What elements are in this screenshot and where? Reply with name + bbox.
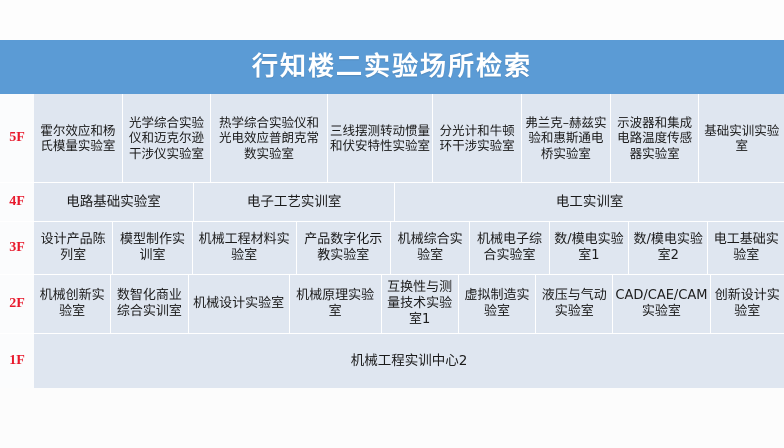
lab-cell-label: 热学综合实验仪和光电效应普朗克常数实验室 (213, 115, 324, 161)
lab-cell[interactable]: 数/模电实验室2 (629, 222, 707, 274)
lab-cell[interactable]: 热学综合实验仪和光电效应普朗克常数实验室 (211, 94, 326, 182)
floor-row: 5F霍尔效应和杨氏模量实验室光学综合实验仪和迈克尔逊干涉仪实验室热学综合实验仪和… (0, 94, 784, 182)
floor-cells: 机械创新实验室数智化商业综合实训室机械设计实验室机械原理实验室互换性与测量技术实… (34, 275, 784, 333)
lab-cell-label: 模型制作实训室 (115, 232, 189, 264)
lab-cell[interactable]: 机械原理实验室 (290, 275, 381, 333)
lab-cell-label: 液压与气动实验室 (538, 288, 610, 320)
lab-cell[interactable]: 机械电子综合实验室 (470, 222, 548, 274)
lab-cell[interactable]: 弗兰克–赫兹实验和惠斯通电桥实验室 (522, 94, 610, 182)
floor-cells: 机械工程实训中心2 (34, 334, 784, 388)
lab-cell[interactable]: 数/模电实验室1 (550, 222, 628, 274)
floor-cells: 电路基础实验室电子工艺实训室电工实训室 (34, 183, 784, 221)
lab-cell[interactable]: 分光计和牛顿环干涉实验室 (433, 94, 521, 182)
floor-label-3f: 3F (0, 222, 34, 274)
lab-cell[interactable]: 电工基础实验室 (708, 222, 784, 274)
floor-label-5f: 5F (0, 94, 34, 182)
lab-cell[interactable]: 示波器和集成电路温度传感器实验室 (611, 94, 699, 182)
floor-label-4f: 4F (0, 183, 34, 221)
lab-cell[interactable]: 基础实训实验室 (699, 94, 784, 182)
lab-cell-label: 基础实训实验室 (701, 123, 782, 154)
lab-cell[interactable]: 机械设计实验室 (189, 275, 289, 333)
lab-cell-label: 产品数字化示教实验室 (299, 232, 388, 264)
lab-cell[interactable]: 机械创新实验室 (34, 275, 110, 333)
lab-cell-label: 电路基础实验室 (66, 194, 161, 210)
lab-cell[interactable]: 虚拟制造实验室 (459, 275, 535, 333)
lab-cell-label: 霍尔效应和杨氏模量实验室 (36, 123, 120, 154)
floor-table: 5F霍尔效应和杨氏模量实验室光学综合实验仪和迈克尔逊干涉仪实验室热学综合实验仪和… (0, 94, 784, 388)
page-title: 行知楼二实验场所检索 (252, 54, 532, 80)
lab-cell[interactable]: CAD/CAE/CAM实验室 (613, 275, 709, 333)
lab-cell[interactable]: 模型制作实训室 (113, 222, 191, 274)
lab-directory-page: 行知楼二实验场所检索 5F霍尔效应和杨氏模量实验室光学综合实验仪和迈克尔逊干涉仪… (0, 0, 784, 448)
page-banner: 行知楼二实验场所检索 (0, 40, 784, 94)
lab-cell-label: 分光计和牛顿环干涉实验室 (435, 123, 519, 154)
lab-cell-label: 光学综合实验仪和迈克尔逊干涉仪实验室 (125, 115, 209, 161)
lab-cell-label: 创新设计实验室 (713, 288, 783, 320)
lab-cell[interactable]: 霍尔效应和杨氏模量实验室 (34, 94, 122, 182)
floor-row: 2F机械创新实验室数智化商业综合实训室机械设计实验室机械原理实验室互换性与测量技… (0, 275, 784, 333)
lab-cell[interactable]: 三线摆测转动惯量和伏安特性实验室 (328, 94, 433, 182)
lab-cell-label: 设计产品陈列室 (36, 232, 110, 264)
lab-cell-label: 机械设计实验室 (193, 296, 284, 312)
lab-cell[interactable]: 互换性与测量技术实验室1 (382, 275, 458, 333)
lab-cell-label: 电工实训室 (556, 194, 624, 210)
lab-cell-label: 机械工程材料实验室 (195, 232, 294, 264)
lab-cell[interactable]: 电路基础实验室 (34, 183, 193, 221)
lab-cell[interactable]: 液压与气动实验室 (536, 275, 612, 333)
lab-cell[interactable]: 设计产品陈列室 (34, 222, 112, 274)
lab-cell[interactable]: 电工实训室 (395, 183, 784, 221)
lab-cell-label: 三线摆测转动惯量和伏安特性实验室 (330, 123, 431, 154)
floor-row: 3F设计产品陈列室模型制作实训室机械工程材料实验室产品数字化示教实验室机械综合实… (0, 222, 784, 274)
lab-cell-label: 数智化商业综合实训室 (113, 288, 185, 320)
lab-cell[interactable]: 创新设计实验室 (711, 275, 784, 333)
lab-cell[interactable]: 机械工程材料实验室 (193, 222, 296, 274)
lab-cell-label: CAD/CAE/CAM实验室 (615, 288, 707, 320)
lab-cell-label: 机械电子综合实验室 (472, 232, 546, 264)
lab-cell-label: 数/模电实验室1 (552, 232, 626, 264)
lab-cell[interactable]: 机械工程实训中心2 (34, 334, 784, 388)
lab-cell-label: 机械原理实验室 (292, 288, 379, 320)
lab-cell-label: 机械综合实验室 (393, 232, 467, 264)
lab-cell[interactable]: 产品数字化示教实验室 (297, 222, 390, 274)
lab-cell-label: 电工基础实验室 (710, 232, 782, 264)
top-white-strip (0, 0, 784, 40)
lab-cell[interactable]: 电子工艺实训室 (194, 183, 394, 221)
floor-label-2f: 2F (0, 275, 34, 333)
lab-cell-label: 虚拟制造实验室 (461, 288, 533, 320)
floor-label-1f: 1F (0, 334, 34, 388)
lab-cell-label: 机械创新实验室 (36, 288, 108, 320)
lab-cell-label: 弗兰克–赫兹实验和惠斯通电桥实验室 (524, 115, 608, 161)
lab-cell-label: 示波器和集成电路温度传感器实验室 (613, 115, 697, 161)
floor-row: 4F电路基础实验室电子工艺实训室电工实训室 (0, 183, 784, 221)
lab-cell-label: 数/模电实验室2 (631, 232, 705, 264)
floor-cells: 霍尔效应和杨氏模量实验室光学综合实验仪和迈克尔逊干涉仪实验室热学综合实验仪和光电… (34, 94, 784, 182)
lab-cell-label: 电子工艺实训室 (247, 194, 342, 210)
lab-cell[interactable]: 数智化商业综合实训室 (111, 275, 187, 333)
floor-row: 1F机械工程实训中心2 (0, 334, 784, 388)
lab-cell[interactable]: 光学综合实验仪和迈克尔逊干涉仪实验室 (123, 94, 211, 182)
floor-cells: 设计产品陈列室模型制作实训室机械工程材料实验室产品数字化示教实验室机械综合实验室… (34, 222, 784, 274)
lab-cell-label: 机械工程实训中心2 (351, 353, 468, 369)
lab-cell[interactable]: 机械综合实验室 (391, 222, 469, 274)
lab-cell-label: 互换性与测量技术实验室1 (384, 280, 456, 328)
